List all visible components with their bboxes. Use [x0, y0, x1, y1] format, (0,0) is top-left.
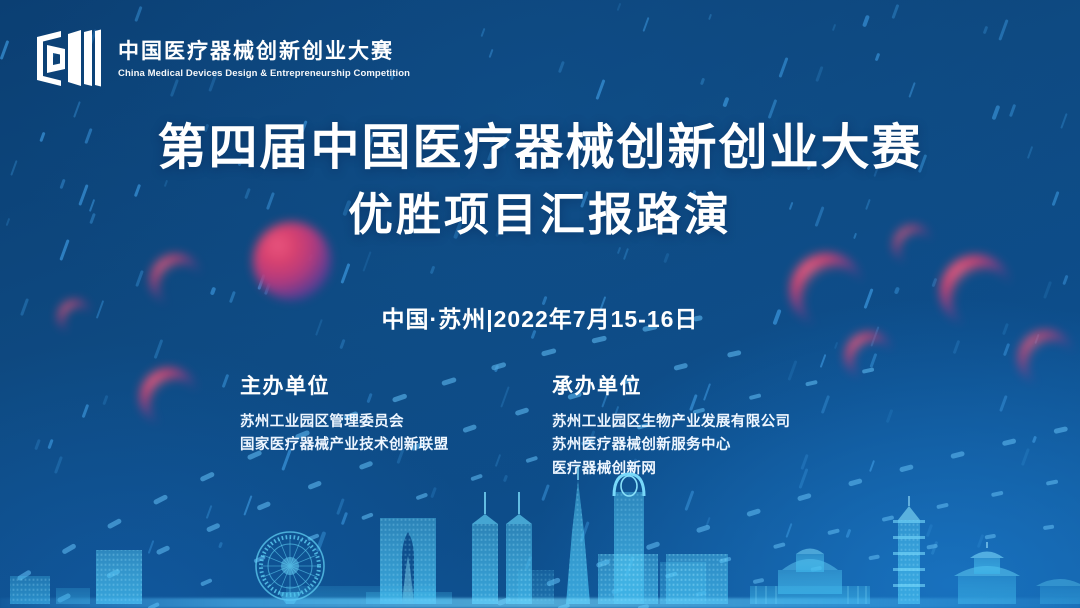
rain-streak — [73, 101, 81, 118]
gate-of-the-orient — [366, 518, 452, 604]
rain-streak — [684, 490, 693, 510]
rain-streak — [617, 3, 622, 11]
rain-streak — [1008, 104, 1015, 118]
host-organizer-heading: 主办单位 — [240, 370, 540, 400]
host-organizer-column: 主办单位 苏州工业园区管理委员会 国家医疗器械产业技术创新联盟 — [228, 370, 540, 481]
logo-name-en: China Medical Devices Design & Entrepren… — [118, 68, 410, 79]
rain-streak — [218, 542, 223, 549]
rain-streak — [708, 14, 712, 21]
rain-streak — [815, 66, 823, 82]
rain-streak — [341, 512, 348, 525]
skyline-ground-glow — [0, 598, 1080, 608]
rain-streak — [244, 495, 253, 515]
rain-streak — [1043, 281, 1052, 299]
rain-streak — [768, 99, 778, 119]
hero-title-line2: 优胜项目汇报路演 — [0, 189, 1080, 241]
organizer-section: 主办单位 苏州工业园区管理委员会 国家医疗器械产业技术创新联盟 承办单位 苏州工… — [0, 370, 1080, 481]
loop-top-tower — [614, 474, 644, 604]
temple — [954, 542, 1020, 604]
rain-streak — [135, 270, 144, 287]
rain-streak — [1062, 274, 1068, 284]
rain-streak — [579, 521, 589, 543]
coorganizer-heading: 承办单位 — [552, 370, 852, 400]
museum-building — [750, 549, 870, 605]
rain-streak — [819, 354, 826, 368]
ferris-wheel — [256, 532, 324, 604]
hero-title-line1: 第四届中国医疗器械创新创业大赛 — [0, 120, 1080, 177]
rain-streak — [205, 505, 212, 519]
building-left-slabs — [10, 550, 142, 604]
rain-streak — [316, 531, 326, 552]
rain-streak — [339, 339, 345, 349]
coorganizer-entry: 医疗器械创新网 — [552, 458, 852, 481]
rain-streak — [430, 487, 436, 499]
rain-streak — [894, 286, 900, 293]
rain-streak — [992, 105, 1000, 120]
rain-streak — [336, 498, 344, 515]
coorganizer-column: 承办单位 苏州工业园区生物产业发展有限公司 苏州医疗器械创新服务中心 医疗器械创… — [540, 370, 852, 481]
rain-streak — [541, 484, 549, 501]
rain-streak — [596, 79, 606, 99]
spire-tower — [566, 466, 590, 604]
rain-streak — [891, 4, 899, 19]
rain-streak — [786, 523, 793, 538]
poster-canvas: 中国医疗器械创新创业大赛 China Medical Devices Desig… — [0, 0, 1080, 608]
rain-streak — [779, 57, 789, 78]
hero-title-block: 第四届中国医疗器械创新创业大赛 优胜项目汇报路演 — [0, 120, 1080, 241]
host-organizer-entry: 苏州工业园区管理委员会 — [240, 411, 540, 434]
rain-streak — [617, 247, 622, 254]
coorganizer-entry: 苏州医疗器械创新服务中心 — [552, 434, 852, 457]
rain-streak — [722, 96, 729, 106]
rain-streak — [977, 534, 984, 548]
rain-streak — [834, 342, 839, 350]
rain-streak — [340, 263, 350, 283]
rain-streak — [643, 17, 650, 32]
rain-streak — [931, 278, 937, 287]
pagoda — [893, 496, 925, 604]
rain-streak — [663, 253, 669, 263]
rain-streak — [148, 540, 155, 554]
rain-streak — [362, 252, 371, 273]
rain-streak — [525, 556, 533, 570]
rain-streak — [488, 49, 493, 58]
rain-streak — [1003, 343, 1010, 356]
rain-streak — [59, 239, 69, 261]
rain-streak — [481, 27, 486, 36]
twin-towers — [472, 492, 532, 604]
rain-streak — [983, 25, 989, 34]
gradient-orb — [150, 254, 202, 306]
rain-streak — [846, 529, 852, 538]
skyline-right-section — [598, 496, 1080, 604]
competition-logo: 中国医疗器械创新创业大赛 China Medical Devices Desig… — [34, 28, 410, 90]
rain-streak — [862, 14, 869, 27]
coorganizer-entry: 苏州工业园区生物产业发展有限公司 — [552, 411, 852, 434]
rain-streak — [874, 52, 879, 60]
host-organizer-entry: 国家医疗器械产业技术创新联盟 — [240, 434, 540, 457]
rain-streak — [558, 61, 565, 73]
rain-streak — [706, 517, 712, 527]
rain-streak — [623, 248, 629, 260]
rain-streak — [429, 266, 435, 275]
rain-streak — [134, 6, 142, 22]
rain-streak — [931, 541, 939, 555]
rain-streak — [998, 19, 1009, 41]
rain-streak — [700, 77, 706, 85]
rain-streak — [952, 340, 959, 354]
rain-streak — [832, 23, 837, 31]
rain-streak — [154, 339, 163, 358]
rain-streak — [210, 287, 216, 296]
logo-name-cn: 中国医疗器械创新创业大赛 — [118, 41, 410, 64]
open-book-door-logo-icon — [34, 28, 104, 90]
rain-streak — [0, 40, 9, 60]
rain-streak — [908, 82, 916, 98]
rain-streak — [624, 556, 634, 577]
rain-streak — [926, 524, 933, 537]
location-date: 中国·苏州|2022年7月15-16日 — [0, 300, 1080, 334]
